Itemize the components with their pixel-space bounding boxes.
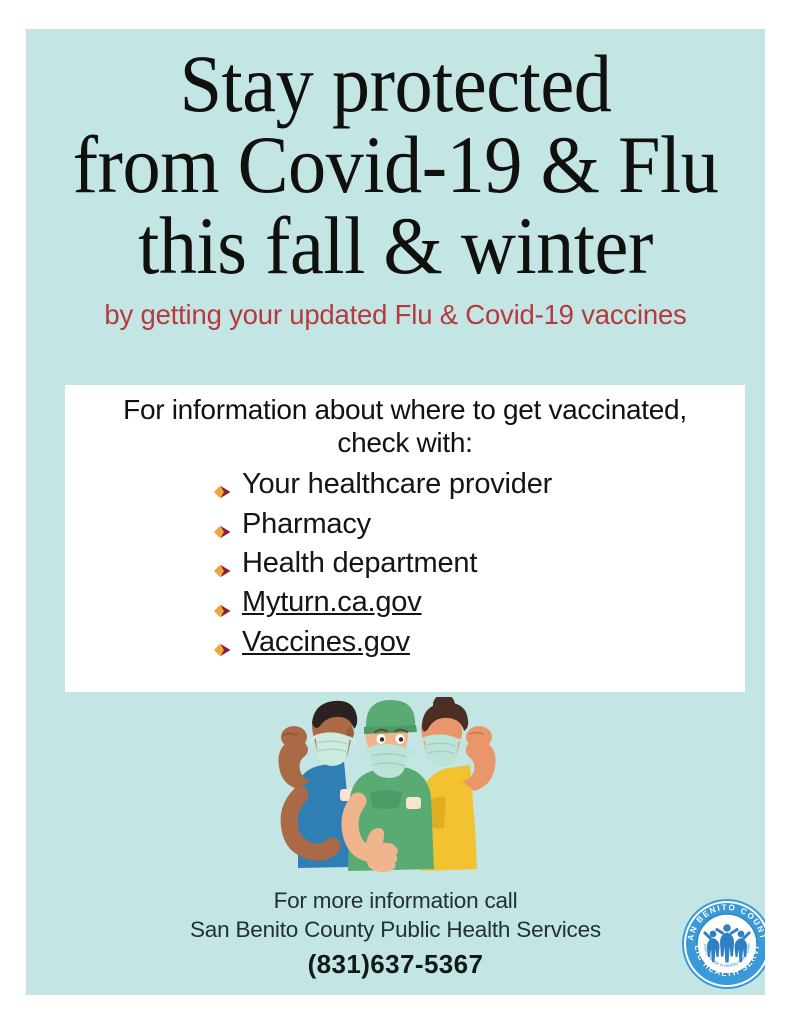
poster-board: Stay protected from Covid-19 & Flu this … (26, 29, 765, 995)
info-card: For information about where to get vacci… (65, 385, 745, 692)
headline-line-1: Stay protected (56, 43, 736, 124)
footer-line-2: San Benito County Public Health Services (26, 916, 765, 945)
arrow-bullet-icon (211, 595, 235, 613)
link-vaccines-gov[interactable]: Vaccines.gov (242, 626, 410, 658)
arrow-bullet-icon (211, 634, 235, 652)
three-masked-people-flexing-illustration (254, 697, 516, 879)
info-card-heading-line-1: For information about where to get vacci… (75, 393, 735, 426)
footer: For more information call San Benito Cou… (26, 887, 765, 980)
list-item-label: Pharmacy (242, 508, 371, 540)
link-myturn[interactable]: Myturn.ca.gov (242, 586, 422, 618)
vaccination-resource-list: Your healthcare provider Pharmacy (75, 468, 735, 658)
arrow-bullet-icon (211, 555, 235, 573)
list-item-label: Health department (242, 547, 477, 579)
list-item-label: Your healthcare provider (242, 468, 552, 500)
list-item: Pharmacy (211, 508, 735, 540)
list-item: Myturn.ca.gov (211, 586, 735, 618)
page-subtitle: by getting your updated Flu & Covid-19 v… (26, 299, 765, 331)
arrow-bullet-icon (211, 476, 235, 494)
arrow-bullet-icon (211, 516, 235, 534)
list-item: Health department (211, 547, 735, 579)
headline-line-2: from Covid-19 & Flu (56, 124, 736, 205)
info-card-heading: For information about where to get vacci… (75, 393, 735, 459)
list-item: Your healthcare provider (211, 468, 735, 500)
contact-phone-number: (831)637-5367 (26, 949, 765, 980)
headline-line-3: this fall & winter (56, 205, 736, 286)
list-item: Vaccines.gov (211, 626, 735, 658)
info-card-heading-line-2: check with: (75, 426, 735, 459)
person-green-scrubs (348, 700, 434, 872)
page-title: Stay protected from Covid-19 & Flu this … (26, 29, 765, 287)
footer-line-1: For more information call (26, 887, 765, 916)
san-benito-county-public-health-services-seal: SAN BENITO COUNTY PUBLIC HEALTH SERVICES… (680, 897, 765, 991)
